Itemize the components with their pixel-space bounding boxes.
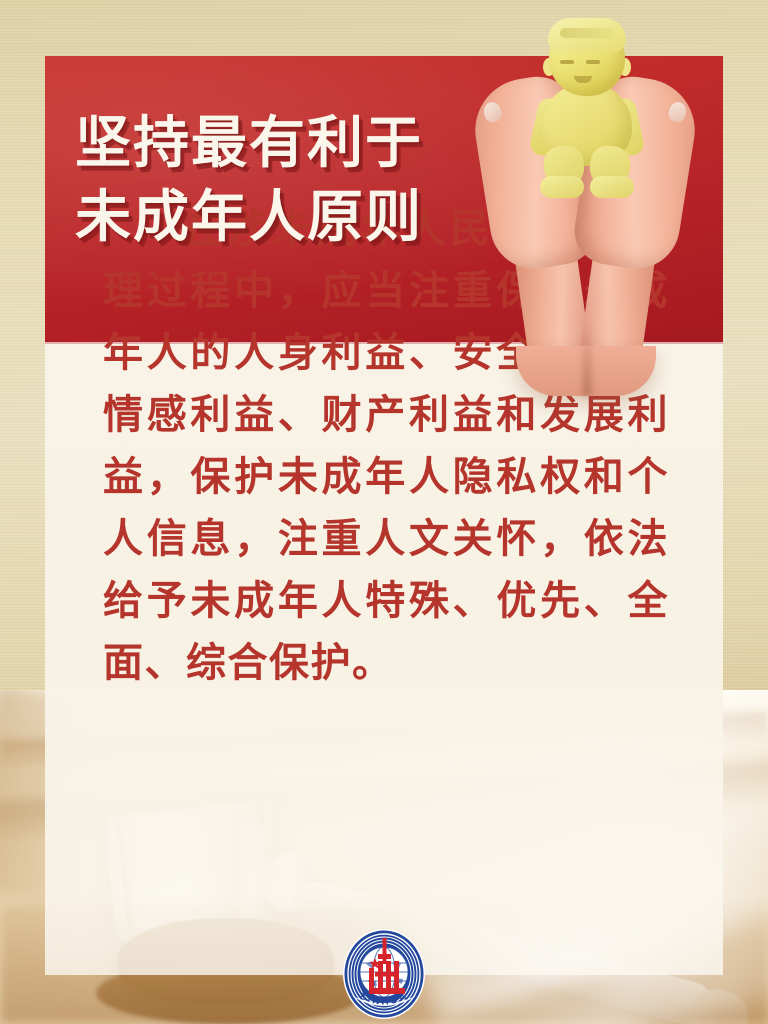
poster-card: 坚持最有利于 未成年人原则 [45,56,723,975]
baby-hair [548,18,626,52]
wrist-base [516,346,656,396]
baby-eye-left [560,60,574,64]
xinhua-logo-icon: XINHUA [342,928,426,1020]
title-line-2: 未成年人原则 [75,180,505,254]
baby-foot-right [590,176,634,198]
xinhua-logo: XINHUA [342,928,426,1020]
hands-holding-baby-icon [460,16,710,376]
poster-root: 坚持最有利于 未成年人原则 [0,0,768,1024]
baby-figure-icon [532,16,642,206]
baby-eye-right [586,60,600,64]
page-title: 坚持最有利于 未成年人原则 [75,106,505,254]
title-line-1: 坚持最有利于 [75,106,505,180]
baby-foot-left [540,176,584,198]
